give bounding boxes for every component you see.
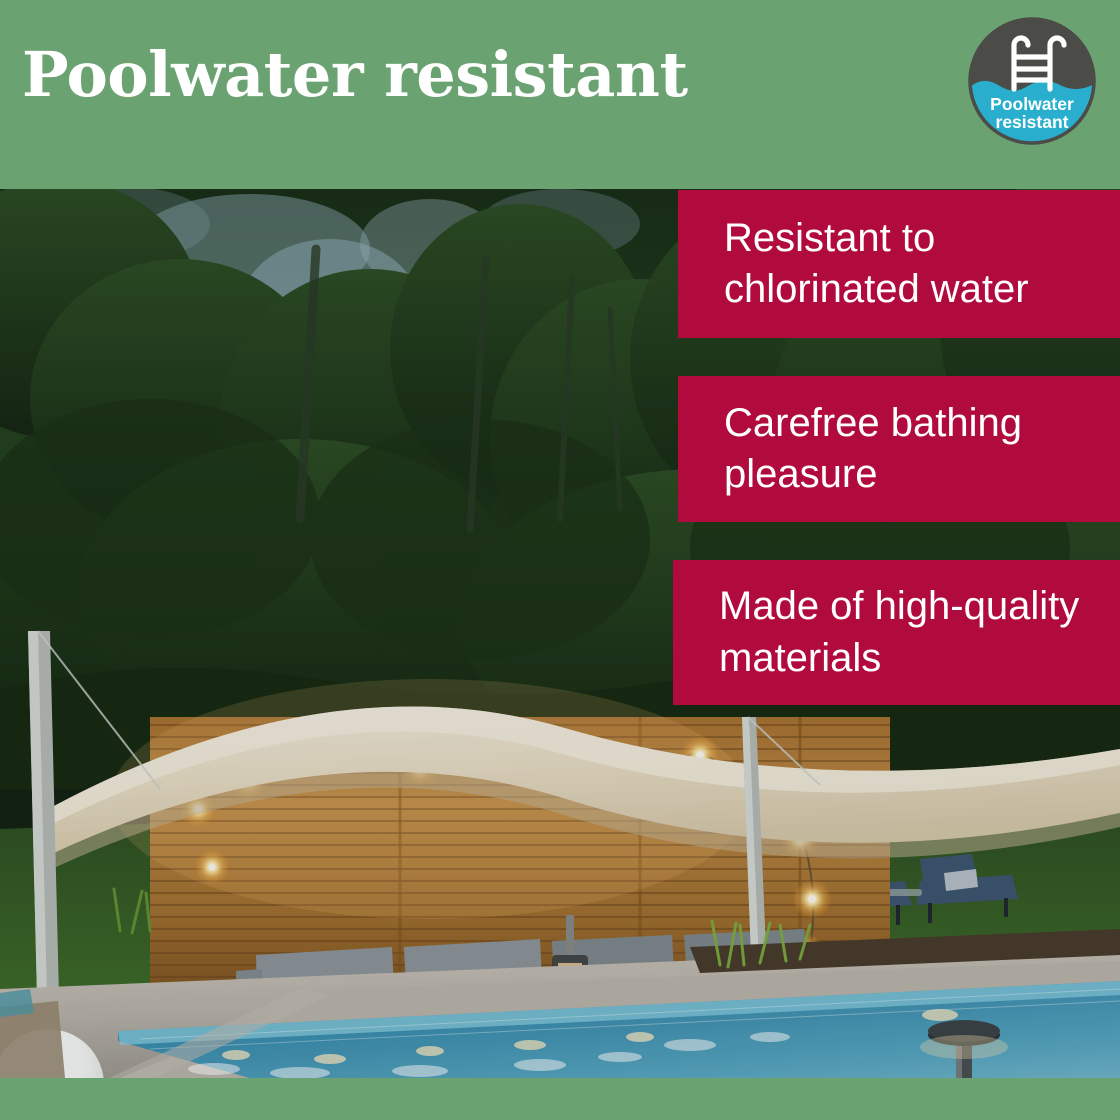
poolwater-resistant-badge: Poolwater resistant [968, 17, 1096, 145]
callout-text-2: Carefree bathing pleasure [724, 398, 1022, 500]
callout-text-3: Made of high-quality materials [719, 581, 1079, 683]
callout-box-3: Made of high-quality materials [673, 560, 1120, 705]
callout-box-2: Carefree bathing pleasure [678, 376, 1120, 522]
callout-box-1: Resistant to chlorinated water [678, 190, 1120, 338]
badge-line1: Poolwater [990, 94, 1074, 114]
callout-text-1: Resistant to chlorinated water [724, 213, 1029, 315]
badge-line2: resistant [996, 112, 1069, 132]
marketing-banner: Poolwater resistant [0, 0, 1120, 1120]
page-title: Poolwater resistant [22, 44, 688, 106]
header-bar: Poolwater resistant [0, 0, 1120, 189]
